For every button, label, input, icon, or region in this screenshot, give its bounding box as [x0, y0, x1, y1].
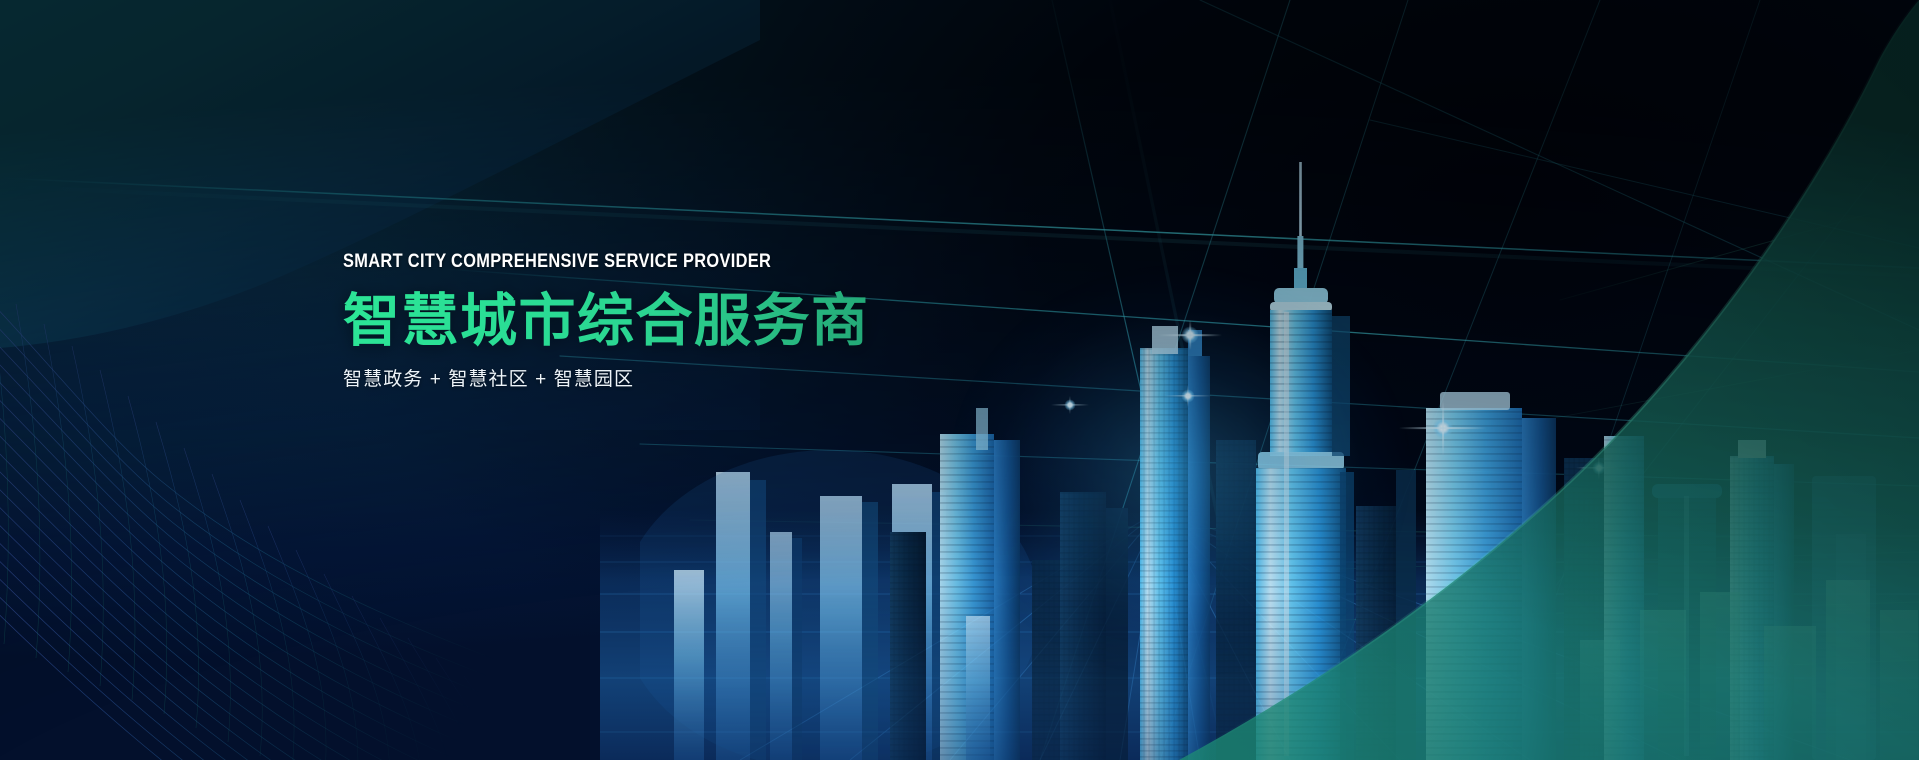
banner-eyebrow-english: SMART CITY COMPREHENSIVE SERVICE PROVIDE… — [343, 252, 948, 272]
page-title: 智慧城市综合服务商 — [343, 290, 1063, 354]
hero-copy-block: SMART CITY COMPREHENSIVE SERVICE PROVIDE… — [343, 252, 1063, 392]
banner-subline: 智慧政务 + 智慧社区 + 智慧园区 — [343, 369, 1063, 392]
smart-city-hero-banner: SMART CITY COMPREHENSIVE SERVICE PROVIDE… — [0, 0, 1919, 760]
